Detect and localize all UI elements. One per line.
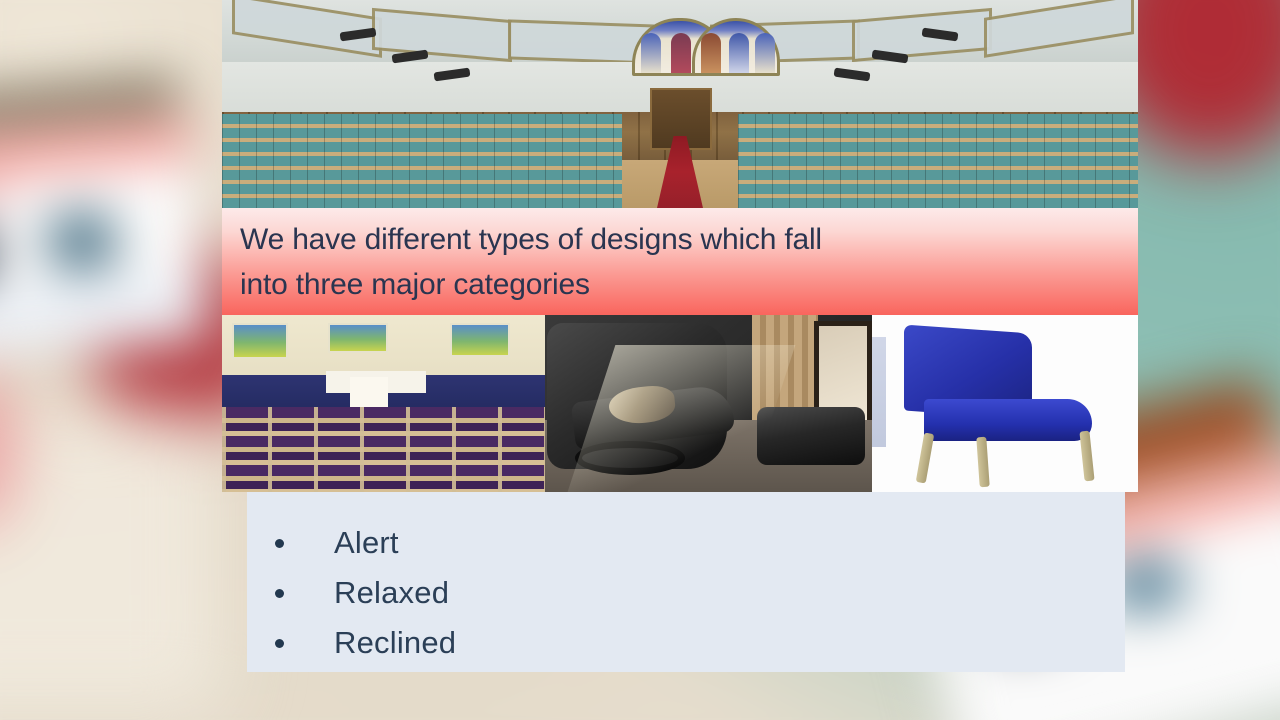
- leather-ottoman: [757, 407, 865, 465]
- background-chair-edge: [872, 337, 886, 447]
- window-pane: [641, 33, 661, 73]
- church-hall-purple-chairs-photo: [222, 315, 545, 492]
- window-pane: [755, 33, 775, 73]
- bullet-label: Relaxed: [334, 575, 449, 611]
- bullet-list-panel: Alert Relaxed Reclined: [247, 492, 1125, 672]
- ghost-slide-title: Reclined: [0, 178, 7, 212]
- church-chair-block-right: [738, 114, 1138, 208]
- window-pane: [671, 33, 691, 73]
- blue-chair-seat: [924, 399, 1092, 441]
- bullet-label: Reclined: [334, 625, 456, 661]
- headline-text: We have different types of designs which…: [240, 217, 1138, 307]
- window-pane: [701, 33, 721, 73]
- church-interior-photo: [222, 0, 1138, 208]
- ghost-slide-footer: [0, 281, 208, 347]
- photo-row: [222, 315, 1138, 492]
- bullet-label: Alert: [334, 525, 399, 561]
- hall-purple-chair-rows: [222, 407, 545, 492]
- bullet-dot-icon: [275, 639, 284, 648]
- list-item: Reclined: [263, 618, 1125, 668]
- church-chair-block-left: [222, 114, 622, 208]
- hall-poster: [328, 323, 388, 353]
- background-ghost-slide-left: Reclined: [0, 109, 209, 364]
- headline-banner: We have different types of designs which…: [222, 208, 1138, 315]
- window-pane: [729, 33, 749, 73]
- hall-poster: [450, 323, 510, 357]
- presentation-slide: We have different types of designs which…: [222, 0, 1138, 492]
- ghost-figure-icon: [44, 213, 119, 269]
- background-light-blob-bottom-left: [0, 410, 220, 710]
- bullet-dot-icon: [275, 539, 284, 548]
- list-item: Alert: [263, 518, 1125, 568]
- blue-chair-photo: [872, 315, 1138, 492]
- leather-recliner-with-cat-photo: [545, 315, 872, 492]
- list-item: Relaxed: [263, 568, 1125, 618]
- hall-poster: [232, 323, 288, 359]
- bullet-dot-icon: [275, 589, 284, 598]
